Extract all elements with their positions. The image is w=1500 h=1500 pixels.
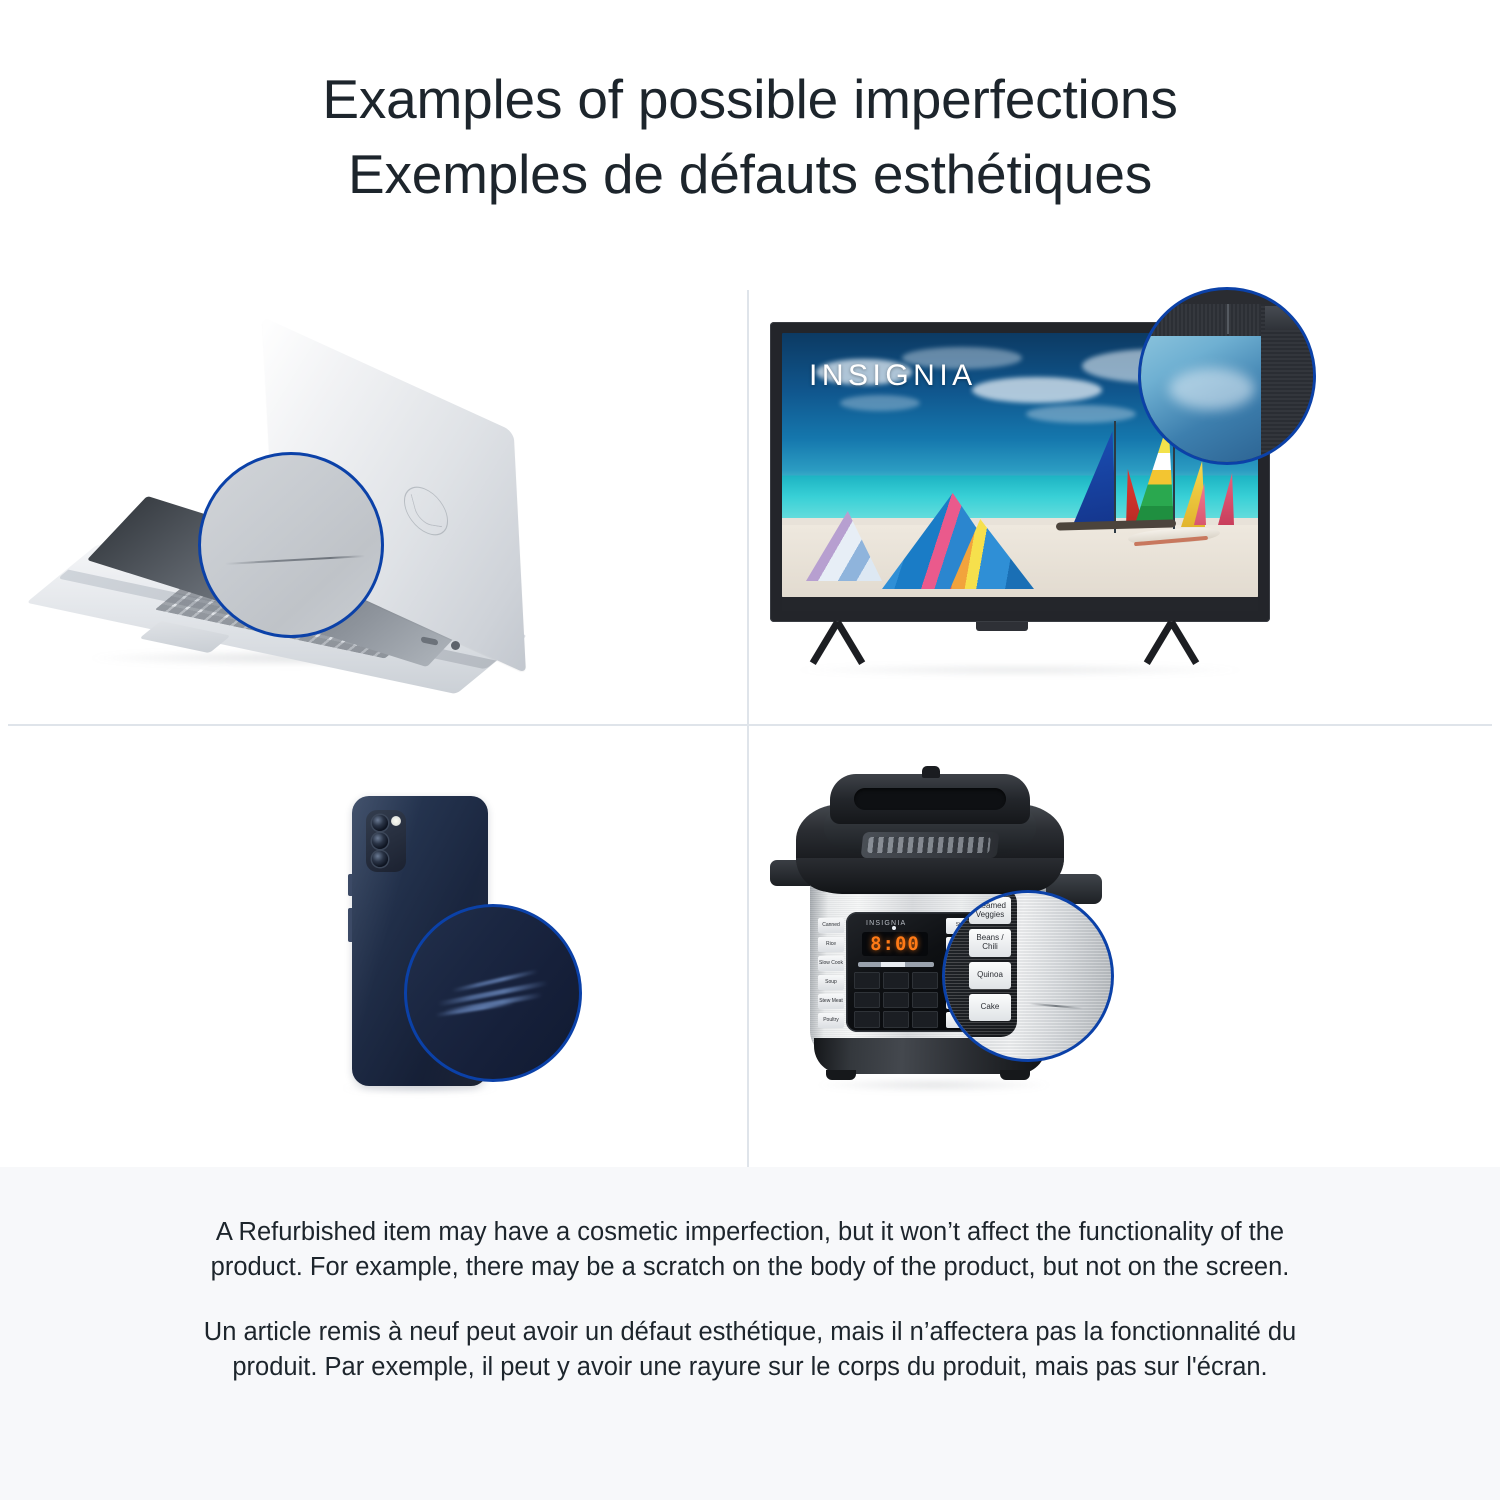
sailboat-mast [1114, 421, 1116, 533]
camera-flash-icon [391, 816, 401, 826]
television-bezel-seam [1227, 304, 1229, 334]
television-screen-brand-logo: INSIGNIA [809, 359, 977, 393]
magnifier-circle-pressure-cooker: Steamed Veggies Beans / Chili Quinoa Cak… [942, 890, 1114, 1062]
keypad-button[interactable] [912, 992, 938, 1009]
laptop-audio-port [451, 641, 460, 650]
page-title-english: Examples of possible imperfections [322, 62, 1177, 137]
camera-lens-icon [372, 833, 388, 849]
television-bottom-bezel [782, 597, 1258, 611]
pressure-cooker-display: 8:00 [862, 932, 928, 956]
panel-indicator-led [892, 926, 896, 930]
header: Examples of possible imperfections Exemp… [0, 0, 1500, 258]
program-button[interactable]: Canned [818, 918, 844, 933]
television-illustration: INSIGNIA [750, 282, 1497, 724]
disclaimer-french: Un article remis à neuf peut avoir un dé… [170, 1315, 1330, 1385]
camera-lens-icon [372, 815, 388, 831]
sailboat-blue-sail [1072, 431, 1116, 527]
pressure-cooker-illustration: INSIGNIA 8:00 Cann [750, 726, 1497, 1168]
television-brand-badge [976, 622, 1028, 631]
program-button[interactable]: Rice [818, 937, 844, 952]
smartphone-illustration [0, 726, 747, 1168]
television-stand-leg [834, 620, 865, 665]
program-button[interactable]: Slow Cook [818, 956, 844, 971]
keypad-button[interactable] [854, 1011, 880, 1028]
refurbished-imperfections-infographic: Examples of possible imperfections Exemp… [0, 0, 1500, 1500]
program-button[interactable]: Stew Meat [818, 994, 844, 1009]
keypad-button[interactable] [883, 972, 909, 989]
program-button[interactable]: Poultry [818, 1013, 844, 1028]
page-title-french: Exemples de défauts esthétiques [348, 137, 1152, 212]
pressure-cooker-foot [1000, 1070, 1030, 1080]
pressure-cooker-keypad[interactable] [854, 972, 938, 1028]
television-stand-leg [1168, 620, 1199, 665]
disclaimer-english: A Refurbished item may have a cosmetic i… [170, 1215, 1330, 1285]
cloud-icon [972, 377, 1102, 403]
camera-lens-icon [372, 851, 388, 867]
pressure-cooker-shadow [814, 1078, 1054, 1092]
cell-television: INSIGNIA [750, 282, 1497, 724]
pressure-cooker-brand-label: INSIGNIA [866, 920, 906, 927]
smartphone-power-button [348, 874, 352, 896]
pressure-cooker-left-button-column[interactable]: Canned Rice Slow Cook Soup Stew Meat Pou… [818, 918, 844, 1028]
grid-vertical-divider [747, 290, 749, 1167]
keypad-button[interactable] [854, 992, 880, 1009]
keypad-button[interactable] [883, 1011, 909, 1028]
cloud-icon [1026, 405, 1136, 423]
examples-grid: INSIGNIA [0, 282, 1500, 1167]
panel-progress-bar [858, 962, 934, 967]
magnified-program-button: Steamed Veggies [969, 897, 1011, 924]
smartphone-volume-button [348, 908, 352, 942]
cell-laptop [0, 282, 747, 724]
keypad-button[interactable] [912, 972, 938, 989]
keypad-button[interactable] [854, 972, 880, 989]
magnified-program-button: Cake [969, 994, 1011, 1021]
pressure-cooker-handle-grip [854, 788, 1006, 810]
television-bezel-corner-highlight [1265, 306, 1316, 330]
cloud-icon [840, 395, 920, 411]
footer-disclaimer: A Refurbished item may have a cosmetic i… [0, 1167, 1500, 1500]
cell-pressure-cooker: INSIGNIA 8:00 Cann [750, 726, 1497, 1168]
cell-smartphone [0, 726, 747, 1168]
display-value: 8:00 [870, 933, 920, 955]
keypad-button[interactable] [883, 992, 909, 1009]
pressure-cooker-lid-vent [861, 832, 1000, 858]
magnified-button-column: Steamed Veggies Beans / Chili Quinoa Cak… [969, 897, 1011, 1021]
keypad-button[interactable] [912, 1011, 938, 1028]
television-shadow [790, 664, 1250, 676]
laptop-scratch-detail [225, 555, 365, 565]
pressure-cooker-lid-rim [796, 858, 1064, 892]
magnifier-circle-laptop [198, 452, 384, 638]
laptop-illustration [0, 282, 747, 724]
magnifier-circle-television [1138, 287, 1316, 465]
magnified-program-button: Beans / Chili [969, 929, 1011, 956]
program-button[interactable]: Soup [818, 975, 844, 990]
magnifier-circle-smartphone [404, 904, 582, 1082]
cloud-icon [1169, 368, 1255, 410]
pressure-cooker-foot [826, 1070, 856, 1080]
magnified-program-button: Quinoa [969, 962, 1011, 989]
sailboat-pink-sail [1218, 473, 1234, 525]
pressure-release-valve [922, 766, 940, 778]
